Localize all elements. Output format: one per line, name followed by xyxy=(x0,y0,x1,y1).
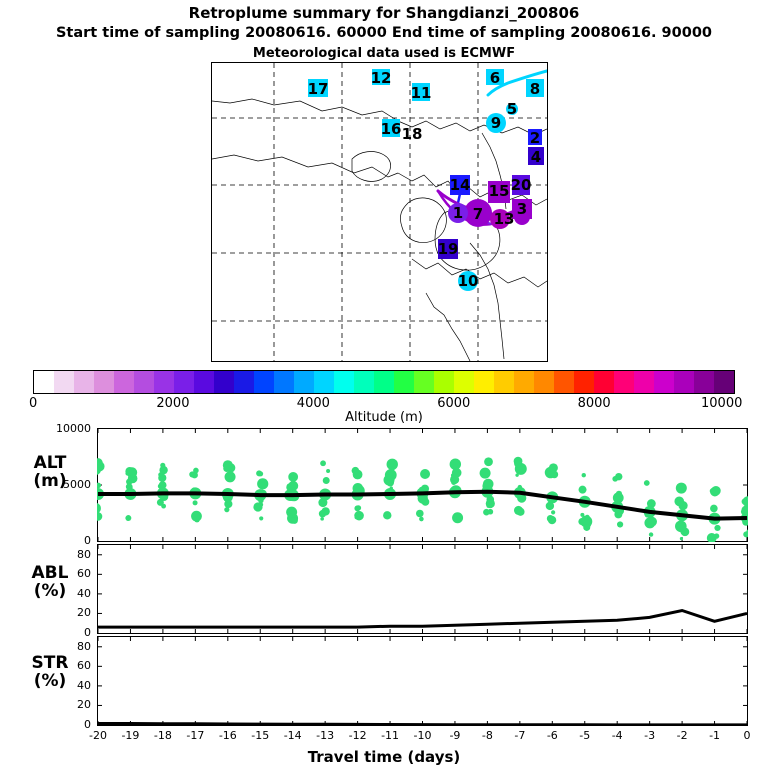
alt-scatter-point xyxy=(320,517,324,521)
alt-scatter-point xyxy=(323,477,330,484)
svg-text:20: 20 xyxy=(511,176,532,194)
colorbar-swatch xyxy=(214,371,234,393)
alt-scatter-point xyxy=(484,457,493,466)
colorbar-swatch xyxy=(74,371,94,393)
colorbar-swatch xyxy=(494,371,514,393)
colorbar-swatch xyxy=(474,371,494,393)
map-coastlines xyxy=(212,99,547,361)
x-tick-label: -2 xyxy=(667,729,697,742)
alt-scatter-point xyxy=(579,486,587,494)
x-tick-label: -4 xyxy=(602,729,632,742)
alt-scatter-point xyxy=(743,531,748,537)
alt-scatter-point xyxy=(644,517,655,528)
page-title: Retroplume summary for Shangdianzi_20080… xyxy=(0,4,768,22)
alt-scatter-point xyxy=(125,467,133,475)
alt-scatter-point xyxy=(224,507,229,512)
alt-scatter-point xyxy=(97,512,102,521)
alt-scatter-point xyxy=(161,504,166,509)
colorbar-swatch xyxy=(554,371,574,393)
alt-scatter-point xyxy=(516,508,524,516)
svg-text:19: 19 xyxy=(438,240,459,258)
x-tick-label: -20 xyxy=(83,729,113,742)
altitude-colorbar xyxy=(33,370,735,394)
y-tick-label: 20 xyxy=(45,698,91,711)
alt-scatter-point xyxy=(416,510,424,518)
alt-scatter-point xyxy=(583,524,590,531)
str-plot-svg xyxy=(97,636,748,726)
alt-scatter-point xyxy=(676,483,687,494)
svg-text:12: 12 xyxy=(371,69,392,87)
colorbar-swatch xyxy=(594,371,614,393)
y-tick-label: 5000 xyxy=(45,478,91,491)
x-tick-label: -16 xyxy=(213,729,243,742)
alt-scatter-point xyxy=(356,505,361,510)
svg-text:5: 5 xyxy=(507,100,517,118)
alt-scatter-point xyxy=(97,483,101,489)
alt-scatter-point xyxy=(710,488,716,494)
colorbar-tick: 8000 xyxy=(578,396,611,411)
svg-text:10: 10 xyxy=(458,272,479,290)
alt-scatter-point xyxy=(326,469,330,473)
alt-scatter-point xyxy=(710,505,718,513)
alt-scatter-point xyxy=(260,479,264,483)
svg-text:13: 13 xyxy=(494,210,515,228)
x-tick-label: -14 xyxy=(278,729,308,742)
alt-scatter-point xyxy=(291,517,298,524)
alt-scatter-point xyxy=(193,500,198,505)
cluster-labels: 17 12 11 16 6 8 9 5 2 4 14 15 20 3 7 1 1… xyxy=(308,69,542,290)
alt-scatter-point xyxy=(617,521,623,527)
alt-scatter-point xyxy=(451,480,456,485)
colorbar-swatch xyxy=(354,371,374,393)
svg-text:3: 3 xyxy=(517,200,527,218)
alt-scatter-point xyxy=(714,525,720,531)
colorbar-swatch xyxy=(414,371,434,393)
y-tick-label: 20 xyxy=(45,606,91,619)
y-tick-label: 60 xyxy=(45,659,91,672)
svg-text:7: 7 xyxy=(473,205,483,223)
x-tick-label: -15 xyxy=(245,729,275,742)
svg-text:17: 17 xyxy=(308,80,329,98)
svg-text:14: 14 xyxy=(450,176,471,194)
y-tick-label: 40 xyxy=(45,679,91,692)
alt-scatter-point xyxy=(486,499,495,508)
alt-scatter-point xyxy=(488,509,494,515)
sampling-time-subtitle: Start time of sampling 20080616. 60000 E… xyxy=(0,25,768,41)
alt-scatter-point xyxy=(649,532,653,536)
colorbar-tick: 6000 xyxy=(437,396,470,411)
svg-text:9: 9 xyxy=(491,114,501,132)
colorbar-swatch xyxy=(394,371,414,393)
met-data-subtitle: Meteorological data used is ECMWF xyxy=(0,46,768,61)
alt-scatter-point xyxy=(223,465,230,472)
colorbar-tick: 2000 xyxy=(156,396,189,411)
alt-scatter-point xyxy=(680,537,683,540)
y-tick-label: 0 xyxy=(45,534,91,547)
alt-scatter-point xyxy=(612,476,618,482)
y-tick-label: 10000 xyxy=(45,422,91,435)
x-tick-label: -13 xyxy=(310,729,340,742)
colorbar-swatch xyxy=(514,371,534,393)
colorbar-tick: 0 xyxy=(29,396,37,411)
svg-text:4: 4 xyxy=(531,148,541,166)
x-tick-label: -1 xyxy=(700,729,730,742)
alt-scatter-point xyxy=(679,501,684,506)
alt-scatter-point xyxy=(355,515,359,519)
alt-scatter-point xyxy=(480,468,491,479)
x-tick-label: -5 xyxy=(570,729,600,742)
x-tick-label: -18 xyxy=(148,729,178,742)
colorbar-swatch xyxy=(614,371,634,393)
alt-scatter-point xyxy=(514,460,522,468)
colorbar-swatch xyxy=(634,371,654,393)
alt-scatter-point xyxy=(191,511,202,522)
x-tick-label: -9 xyxy=(440,729,470,742)
alt-scatter-point xyxy=(97,503,101,514)
alt-scatter-point xyxy=(714,533,719,538)
alt-scatter-point xyxy=(384,475,395,486)
colorbar-swatch xyxy=(34,371,54,393)
alt-scatter-point xyxy=(420,469,430,479)
y-tick-label: 80 xyxy=(45,548,91,561)
x-tick-label: -19 xyxy=(115,729,145,742)
colorbar-swatch xyxy=(134,371,154,393)
alt-scatter-point xyxy=(551,510,555,514)
alt-scatter-point xyxy=(225,503,230,508)
retroplume-map: 17 12 11 16 6 8 9 5 2 4 14 15 20 3 7 1 1… xyxy=(211,62,548,362)
alt-scatter-point xyxy=(125,515,131,521)
alt-scatter-point xyxy=(319,510,326,517)
colorbar-swatch xyxy=(574,371,594,393)
svg-text:18: 18 xyxy=(402,125,423,143)
alt-scatter-point xyxy=(383,511,391,519)
alt-scatter-point xyxy=(160,463,165,468)
map-svg: 17 12 11 16 6 8 9 5 2 4 14 15 20 3 7 1 1… xyxy=(212,63,547,361)
colorbar-swatch xyxy=(314,371,334,393)
colorbar-swatch xyxy=(454,371,474,393)
x-tick-label: 0 xyxy=(732,729,762,742)
colorbar-swatch xyxy=(94,371,114,393)
alt-scatter-point xyxy=(388,469,391,472)
colorbar-swatch xyxy=(334,371,354,393)
x-tick-label: -8 xyxy=(472,729,502,742)
colorbar-swatch xyxy=(114,371,134,393)
svg-text:1: 1 xyxy=(453,204,463,222)
x-tick-label: -6 xyxy=(537,729,567,742)
x-tick-label: -12 xyxy=(343,729,373,742)
x-tick-label: -7 xyxy=(505,729,535,742)
colorbar-swatch xyxy=(54,371,74,393)
x-tick-label: -10 xyxy=(408,729,438,742)
alt-scatter-point xyxy=(419,517,424,522)
alt-scatter-point xyxy=(391,463,394,466)
alt-scatter-point xyxy=(288,513,293,518)
svg-text:2: 2 xyxy=(530,129,540,147)
colorbar-label: Altitude (m) xyxy=(0,410,768,425)
abl-plot-svg xyxy=(97,544,748,634)
colorbar-swatch xyxy=(654,371,674,393)
alt-scatter-point xyxy=(225,471,236,482)
colorbar-swatch xyxy=(374,371,394,393)
str-line xyxy=(98,724,747,725)
y-tick-label: 60 xyxy=(45,567,91,580)
x-tick-label: -17 xyxy=(180,729,210,742)
alt-scatter-point xyxy=(582,473,586,477)
alt-scatter-point xyxy=(452,512,463,523)
colorbar-swatch xyxy=(154,371,174,393)
colorbar-swatch xyxy=(534,371,554,393)
alt-scatter-point xyxy=(675,520,687,532)
colorbar-swatch xyxy=(694,371,714,393)
colorbar-swatch xyxy=(194,371,214,393)
alt-scatter-point xyxy=(743,496,748,507)
y-tick-label: 80 xyxy=(45,640,91,653)
colorbar-swatch xyxy=(714,371,734,393)
colorbar-swatch xyxy=(274,371,294,393)
alt-scatter-point xyxy=(253,502,262,511)
colorbar-swatch xyxy=(174,371,194,393)
svg-text:16: 16 xyxy=(381,120,402,138)
x-tick-label: -11 xyxy=(375,729,405,742)
colorbar-swatch xyxy=(674,371,694,393)
alt-scatter-point xyxy=(549,463,558,472)
svg-text:15: 15 xyxy=(489,182,510,200)
alt-scatter-point xyxy=(585,515,590,520)
x-tick-label: -3 xyxy=(635,729,665,742)
y-tick-label: 40 xyxy=(45,587,91,600)
svg-text:11: 11 xyxy=(411,84,432,102)
alt-scatter-point xyxy=(644,480,650,486)
colorbar-swatch xyxy=(254,371,274,393)
alt-scatter-point xyxy=(352,467,360,475)
alt-scatter-point xyxy=(548,516,556,524)
colorbar-tick: 4000 xyxy=(297,396,330,411)
y-tick-label: 0 xyxy=(45,626,91,639)
alt-scatter-point xyxy=(259,516,263,520)
colorbar-swatch xyxy=(234,371,254,393)
alt-plot-svg xyxy=(97,428,748,542)
svg-text:8: 8 xyxy=(530,80,540,98)
alt-scatter-point xyxy=(189,471,195,477)
alt-scatter-point xyxy=(97,461,105,471)
colorbar-swatch xyxy=(294,371,314,393)
svg-text:6: 6 xyxy=(490,69,500,87)
colorbar-swatch xyxy=(434,371,454,393)
colorbar-tick: 10000 xyxy=(701,396,742,411)
alt-scatter-point xyxy=(515,473,518,476)
x-axis-label: Travel time (days) xyxy=(0,748,768,766)
alt-scatter-point xyxy=(320,460,326,466)
abl-line xyxy=(98,611,747,628)
alt-scatter-point xyxy=(256,470,262,476)
alt-scatter-point xyxy=(288,472,298,482)
